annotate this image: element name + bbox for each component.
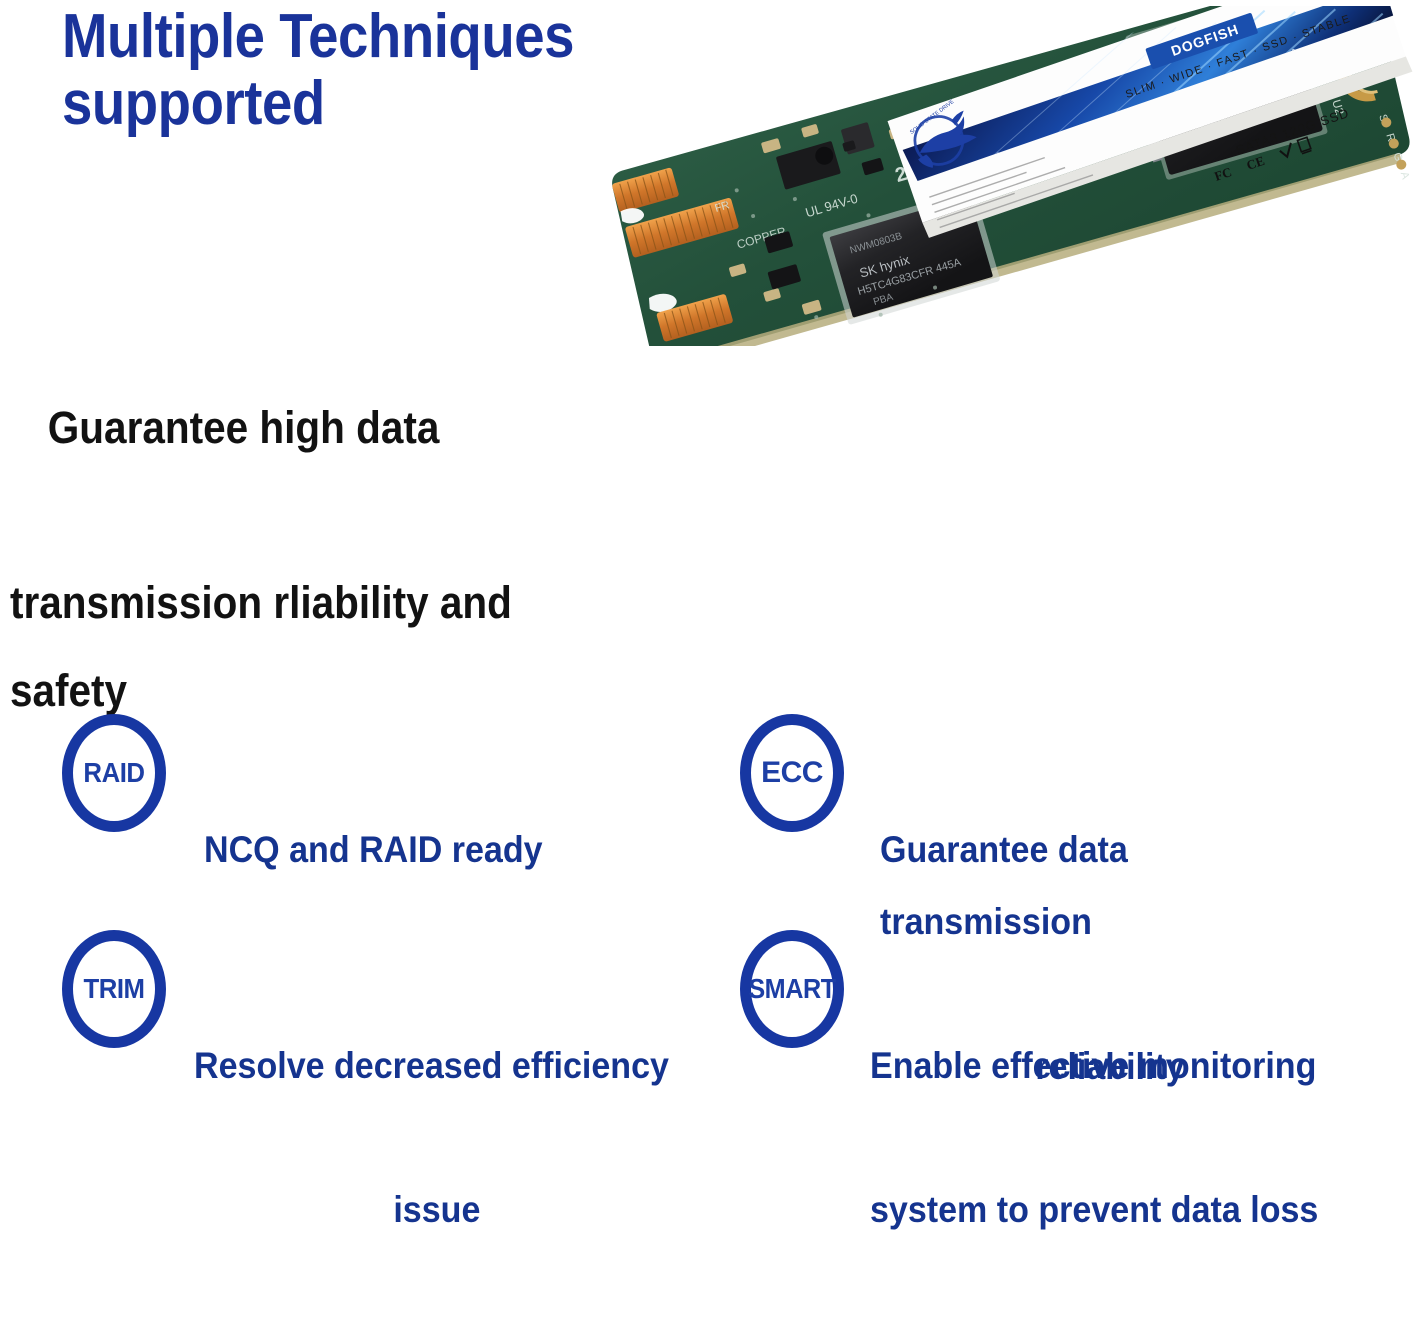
smart-badge-icon: SMART [740, 930, 844, 1048]
feature-smart-line-1: Enable effective monitoring [870, 1030, 1348, 1102]
feature-raid-line-1: NCQ and RAID ready [204, 814, 636, 886]
ecc-badge-label: ECC [761, 758, 823, 788]
page-title: Multiple Techniques supported [62, 4, 608, 138]
subheading-line-1: Guarantee high data [10, 384, 640, 472]
feature-trim-line-2: issue [194, 1174, 680, 1246]
svg-text:A: A [1398, 170, 1412, 181]
feature-item-raid[interactable]: RAID NCQ and RAID ready [62, 714, 682, 958]
ssd-product-image: FR COPPER UL 94V-0 21526 AE SK hynix H5T… [598, 6, 1421, 346]
feature-raid-text: NCQ and RAID ready [204, 714, 636, 958]
trim-badge-icon: TRIM [62, 930, 166, 1048]
feature-trim-line-1: Resolve decreased efficiency [194, 1030, 680, 1102]
feature-smart-text: Enable effective monitoring system to pr… [870, 930, 1348, 1319]
raid-badge-label: RAID [83, 759, 144, 787]
feature-trim-text: Resolve decreased efficiency issue [194, 930, 680, 1319]
ecc-badge-icon: ECC [740, 714, 844, 832]
feature-item-smart[interactable]: SMART Enable effective monitoring system… [740, 930, 1400, 1319]
raid-badge-icon: RAID [62, 714, 166, 832]
smart-badge-label: SMART [748, 975, 835, 1003]
trim-badge-label: TRIM [83, 975, 144, 1003]
feature-smart-line-2: system to prevent data loss [870, 1174, 1348, 1246]
feature-list: RAID NCQ and RAID ready ECC Guarantee da… [0, 672, 1421, 1092]
feature-item-trim[interactable]: TRIM Resolve decreased efficiency issue [62, 930, 722, 1319]
